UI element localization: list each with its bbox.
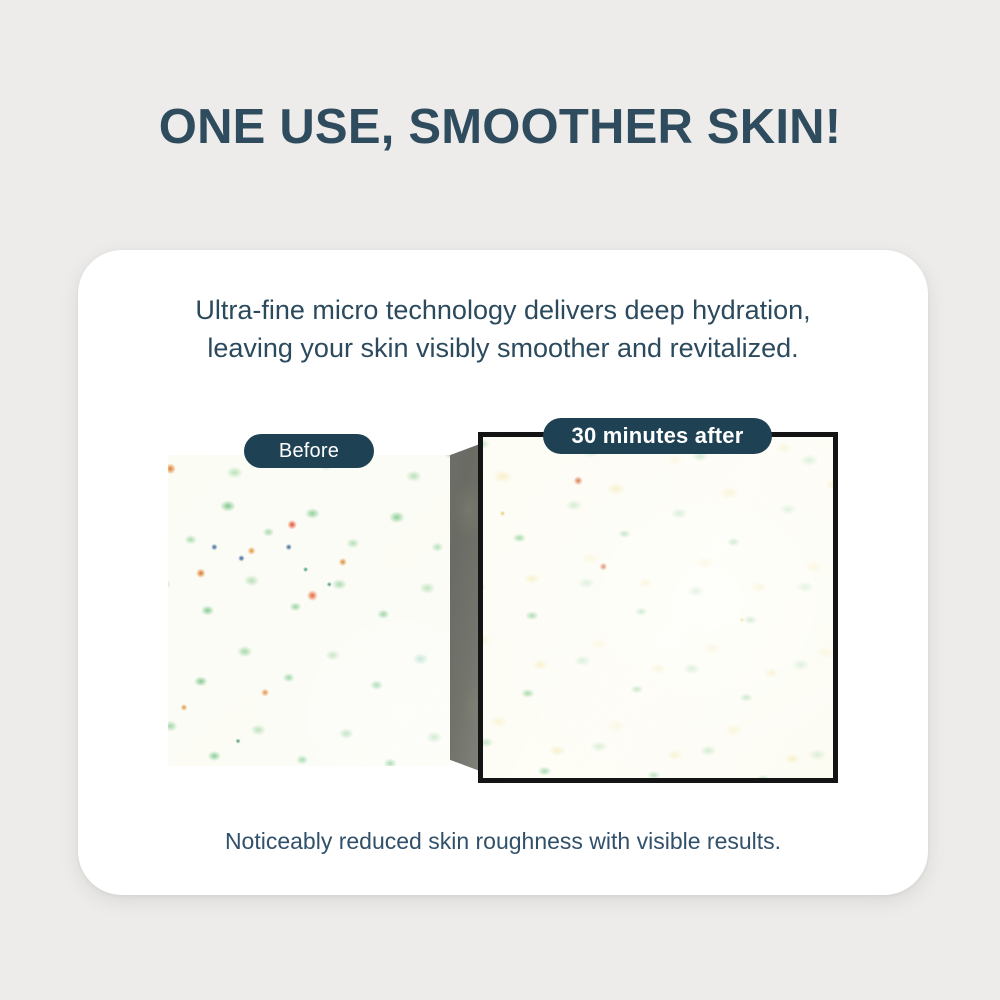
after-texture-haze: [483, 437, 833, 778]
promo-graphic: ONE USE, SMOOTHER SKIN! Ultra-fine micro…: [0, 0, 1000, 1000]
after-image: [478, 432, 838, 783]
badge-after: 30 minutes after: [543, 418, 772, 454]
lead-paragraph: Ultra-fine micro technology delivers dee…: [78, 291, 928, 368]
lead-line-1: Ultra-fine micro technology delivers dee…: [108, 291, 898, 329]
before-image: [168, 455, 450, 766]
lead-line-2: leaving your skin visibly smoother and r…: [108, 329, 898, 367]
content-card: Ultra-fine micro technology delivers dee…: [78, 250, 928, 895]
after-image-inner: [483, 437, 833, 778]
page-title: ONE USE, SMOOTHER SKIN!: [0, 101, 1000, 155]
result-caption: Noticeably reduced skin roughness with v…: [78, 828, 928, 855]
badge-before-label: Before: [279, 440, 339, 463]
before-texture-haze: [168, 455, 450, 766]
badge-after-label: 30 minutes after: [572, 423, 744, 449]
badge-before: Before: [244, 434, 374, 468]
